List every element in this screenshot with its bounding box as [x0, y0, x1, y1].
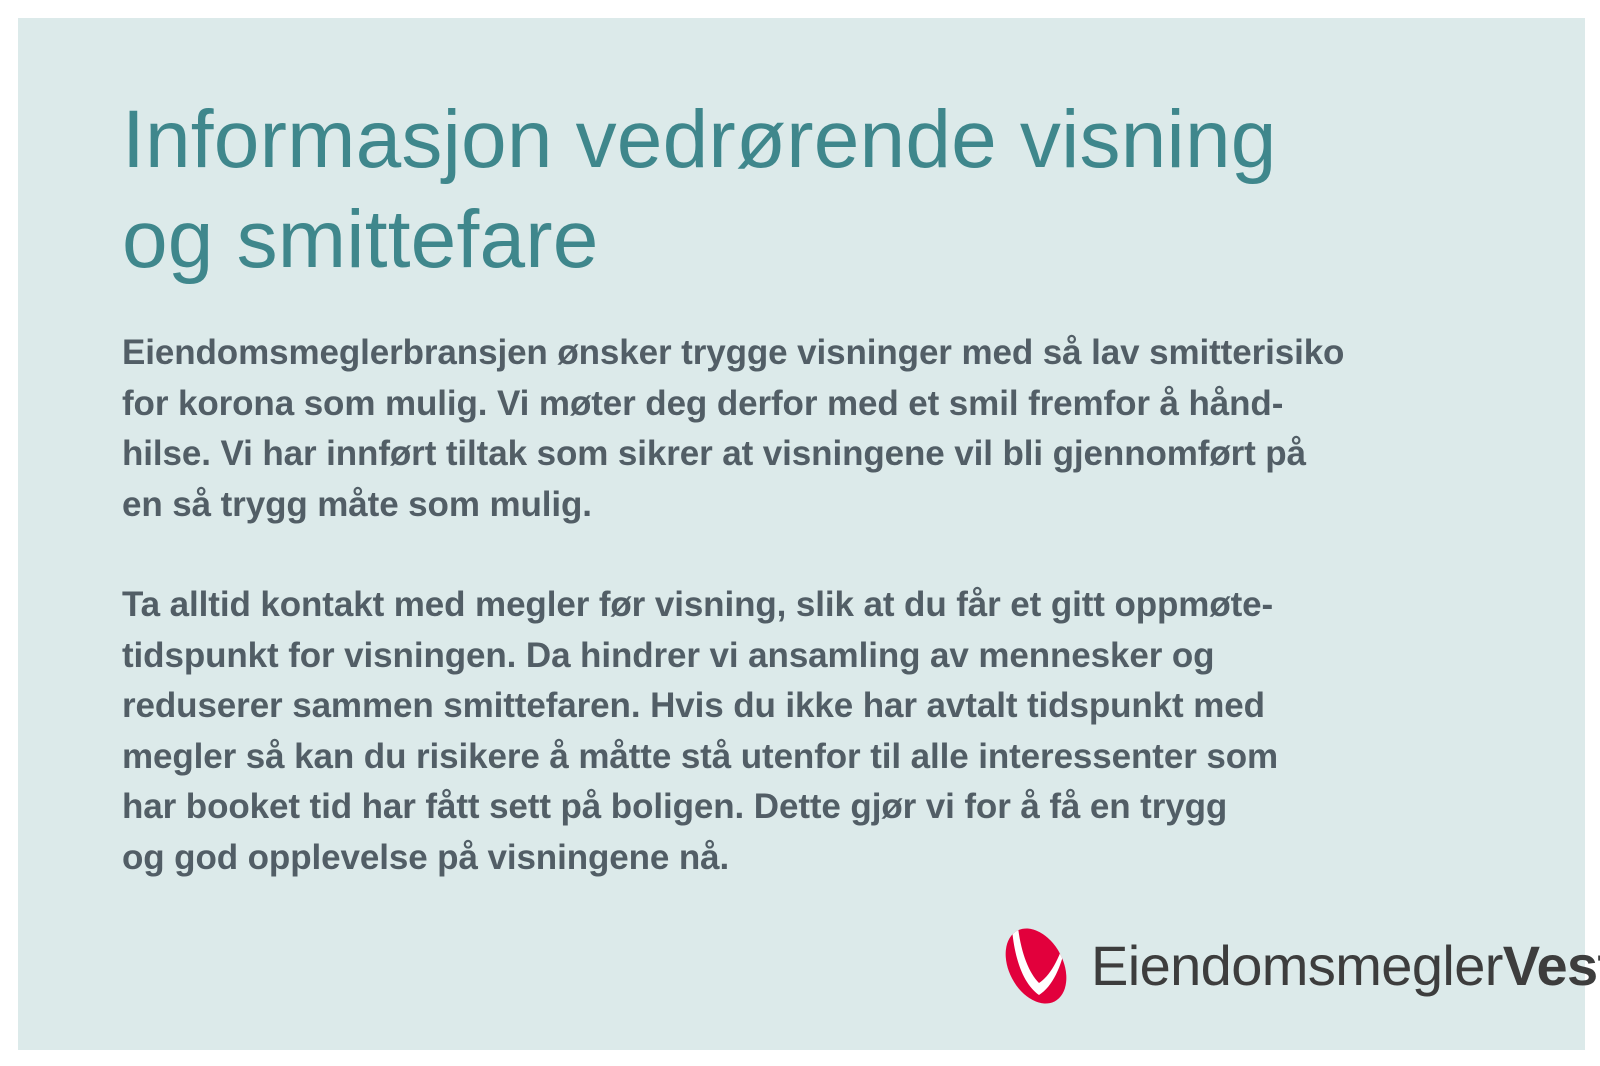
paragraph-1-line-2: for korona som mulig. Vi møter deg derfo… — [122, 379, 1482, 430]
paragraph-2-line-1: Ta alltid kontakt med megler før visning… — [122, 580, 1482, 631]
brand-wordmark: EiendomsmeglerVest — [1091, 938, 1600, 994]
paragraph-2-line-4: megler så kan du risikere å måtte stå ut… — [122, 732, 1482, 783]
paragraph-2-line-5: har booket tid har fått sett på boligen.… — [122, 782, 1482, 833]
page-title-line-2-text: og smittefare — [122, 190, 599, 290]
leaf-swoosh-icon — [999, 923, 1073, 1009]
poster-card: Informasjon vedrørende visning og smitte… — [18, 18, 1585, 1050]
page-title-line-1-text: Informasjon vedrørende visning — [122, 90, 1277, 190]
paragraph-2-line-2: tidspunkt for visningen. Da hindrer vi a… — [122, 631, 1482, 682]
page-title-line-2: og smittefare — [122, 190, 1422, 290]
brand-logo: EiendomsmeglerVest — [999, 923, 1600, 1009]
body-copy: Eiendomsmeglerbransjen ønsker trygge vis… — [122, 328, 1482, 883]
paragraph-2-line-6: og god opplevelse på visningene nå. — [122, 833, 1482, 884]
paragraph-2-line-3: reduserer sammen smittefaren. Hvis du ik… — [122, 681, 1482, 732]
page-title: Informasjon vedrørende visning og smitte… — [122, 90, 1422, 290]
brand-wordmark-light: Eiendomsmegler — [1091, 934, 1503, 997]
paragraph-1: Eiendomsmeglerbransjen ønsker trygge vis… — [122, 328, 1482, 530]
paragraph-1-line-3: hilse. Vi har innført tiltak som sikrer … — [122, 429, 1482, 480]
paragraph-1-line-4: en så trygg måte som mulig. — [122, 480, 1482, 531]
paragraph-2: Ta alltid kontakt med megler før visning… — [122, 580, 1482, 883]
paragraph-1-line-1: Eiendomsmeglerbransjen ønsker trygge vis… — [122, 328, 1482, 379]
brand-wordmark-bold: Vest — [1503, 934, 1600, 997]
page-title-line-1: Informasjon vedrørende visning — [122, 90, 1422, 190]
